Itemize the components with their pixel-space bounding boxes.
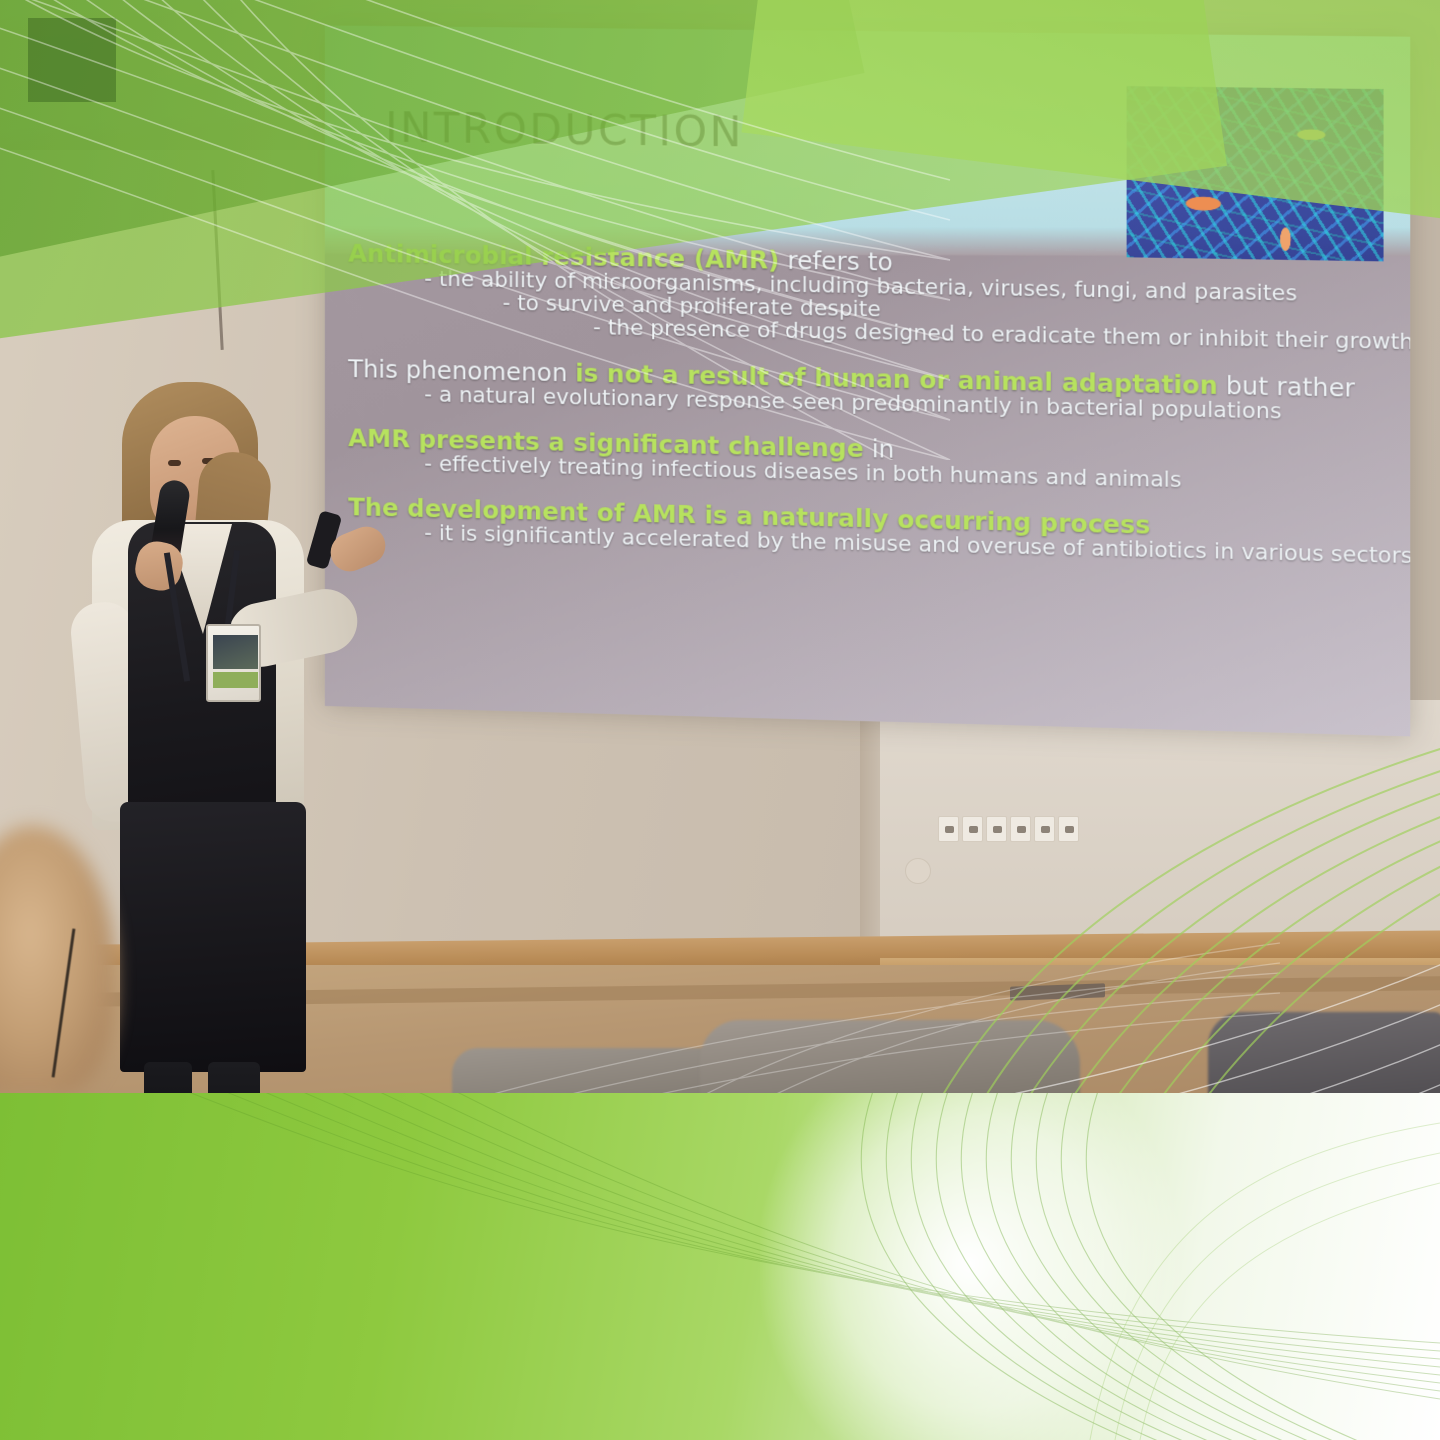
bottom-banner: Vesna Gantner (Croatia) 15th INTERNATION… bbox=[0, 1093, 1440, 1440]
presenter-skirt bbox=[120, 802, 306, 1072]
decorative-line-mesh-top-left bbox=[0, 0, 960, 460]
decorative-line-mesh-bottom-right bbox=[810, 653, 1440, 1093]
banner-line-mesh bbox=[0, 1093, 1440, 1440]
presenter-leg-left bbox=[144, 1062, 192, 1093]
screenshot-root: INTRODUCTION Antimicrobial resistance (A… bbox=[0, 0, 1440, 1440]
name-badge bbox=[206, 624, 261, 702]
presenter-leg-right bbox=[208, 1062, 260, 1093]
conference-photo: INTRODUCTION Antimicrobial resistance (A… bbox=[0, 0, 1440, 1093]
